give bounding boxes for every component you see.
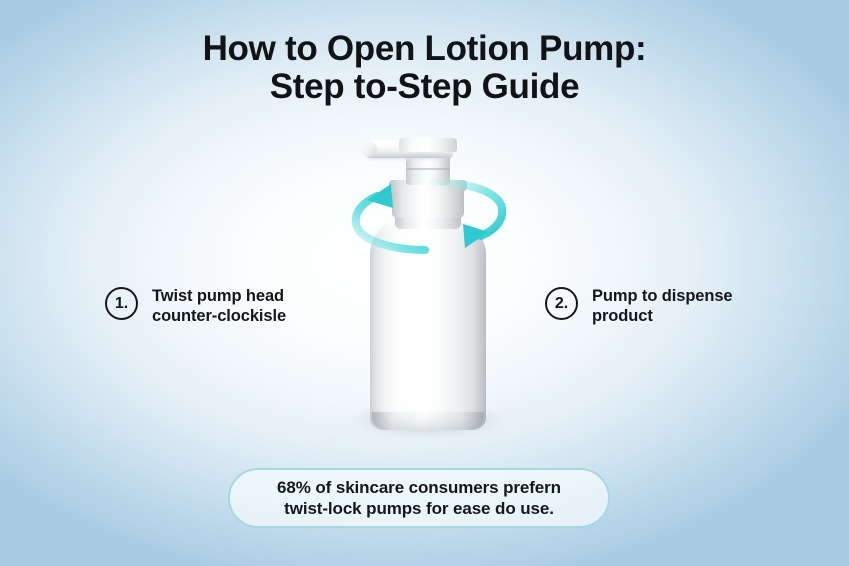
infographic-canvas: How to Open Lotion Pump: Step to-Step Gu… (0, 0, 849, 566)
step-number-badge-2: 2. (545, 287, 578, 320)
bottle-highlight (391, 232, 411, 416)
lotion-pump-bottle-illustration (333, 128, 523, 448)
statistic-callout: 68% of skincare consumers prefern twist-… (228, 468, 610, 528)
title-line-2: Step to-Step Guide (0, 68, 849, 106)
bottle-body (370, 222, 486, 430)
bottle-base (372, 412, 484, 430)
step-label-2: Pump to dispense product (592, 286, 733, 326)
statistic-text: 68% of skincare consumers prefern twist-… (277, 477, 561, 519)
pump-nozzle-top-plate (399, 138, 457, 152)
page-title: How to Open Lotion Pump: Step to-Step Gu… (0, 30, 849, 106)
step-item-2[interactable]: 2. Pump to dispense product (545, 286, 733, 326)
step-label-1: Twist pump head counter-clockisle (152, 286, 286, 326)
step-item-1[interactable]: 1. Twist pump head counter-clockisle (105, 286, 286, 326)
step-number-badge-1: 1. (105, 287, 138, 320)
pump-neck-seam (406, 168, 450, 170)
title-line-1: How to Open Lotion Pump: (0, 30, 849, 68)
pump-nozzle-tip (361, 141, 377, 157)
